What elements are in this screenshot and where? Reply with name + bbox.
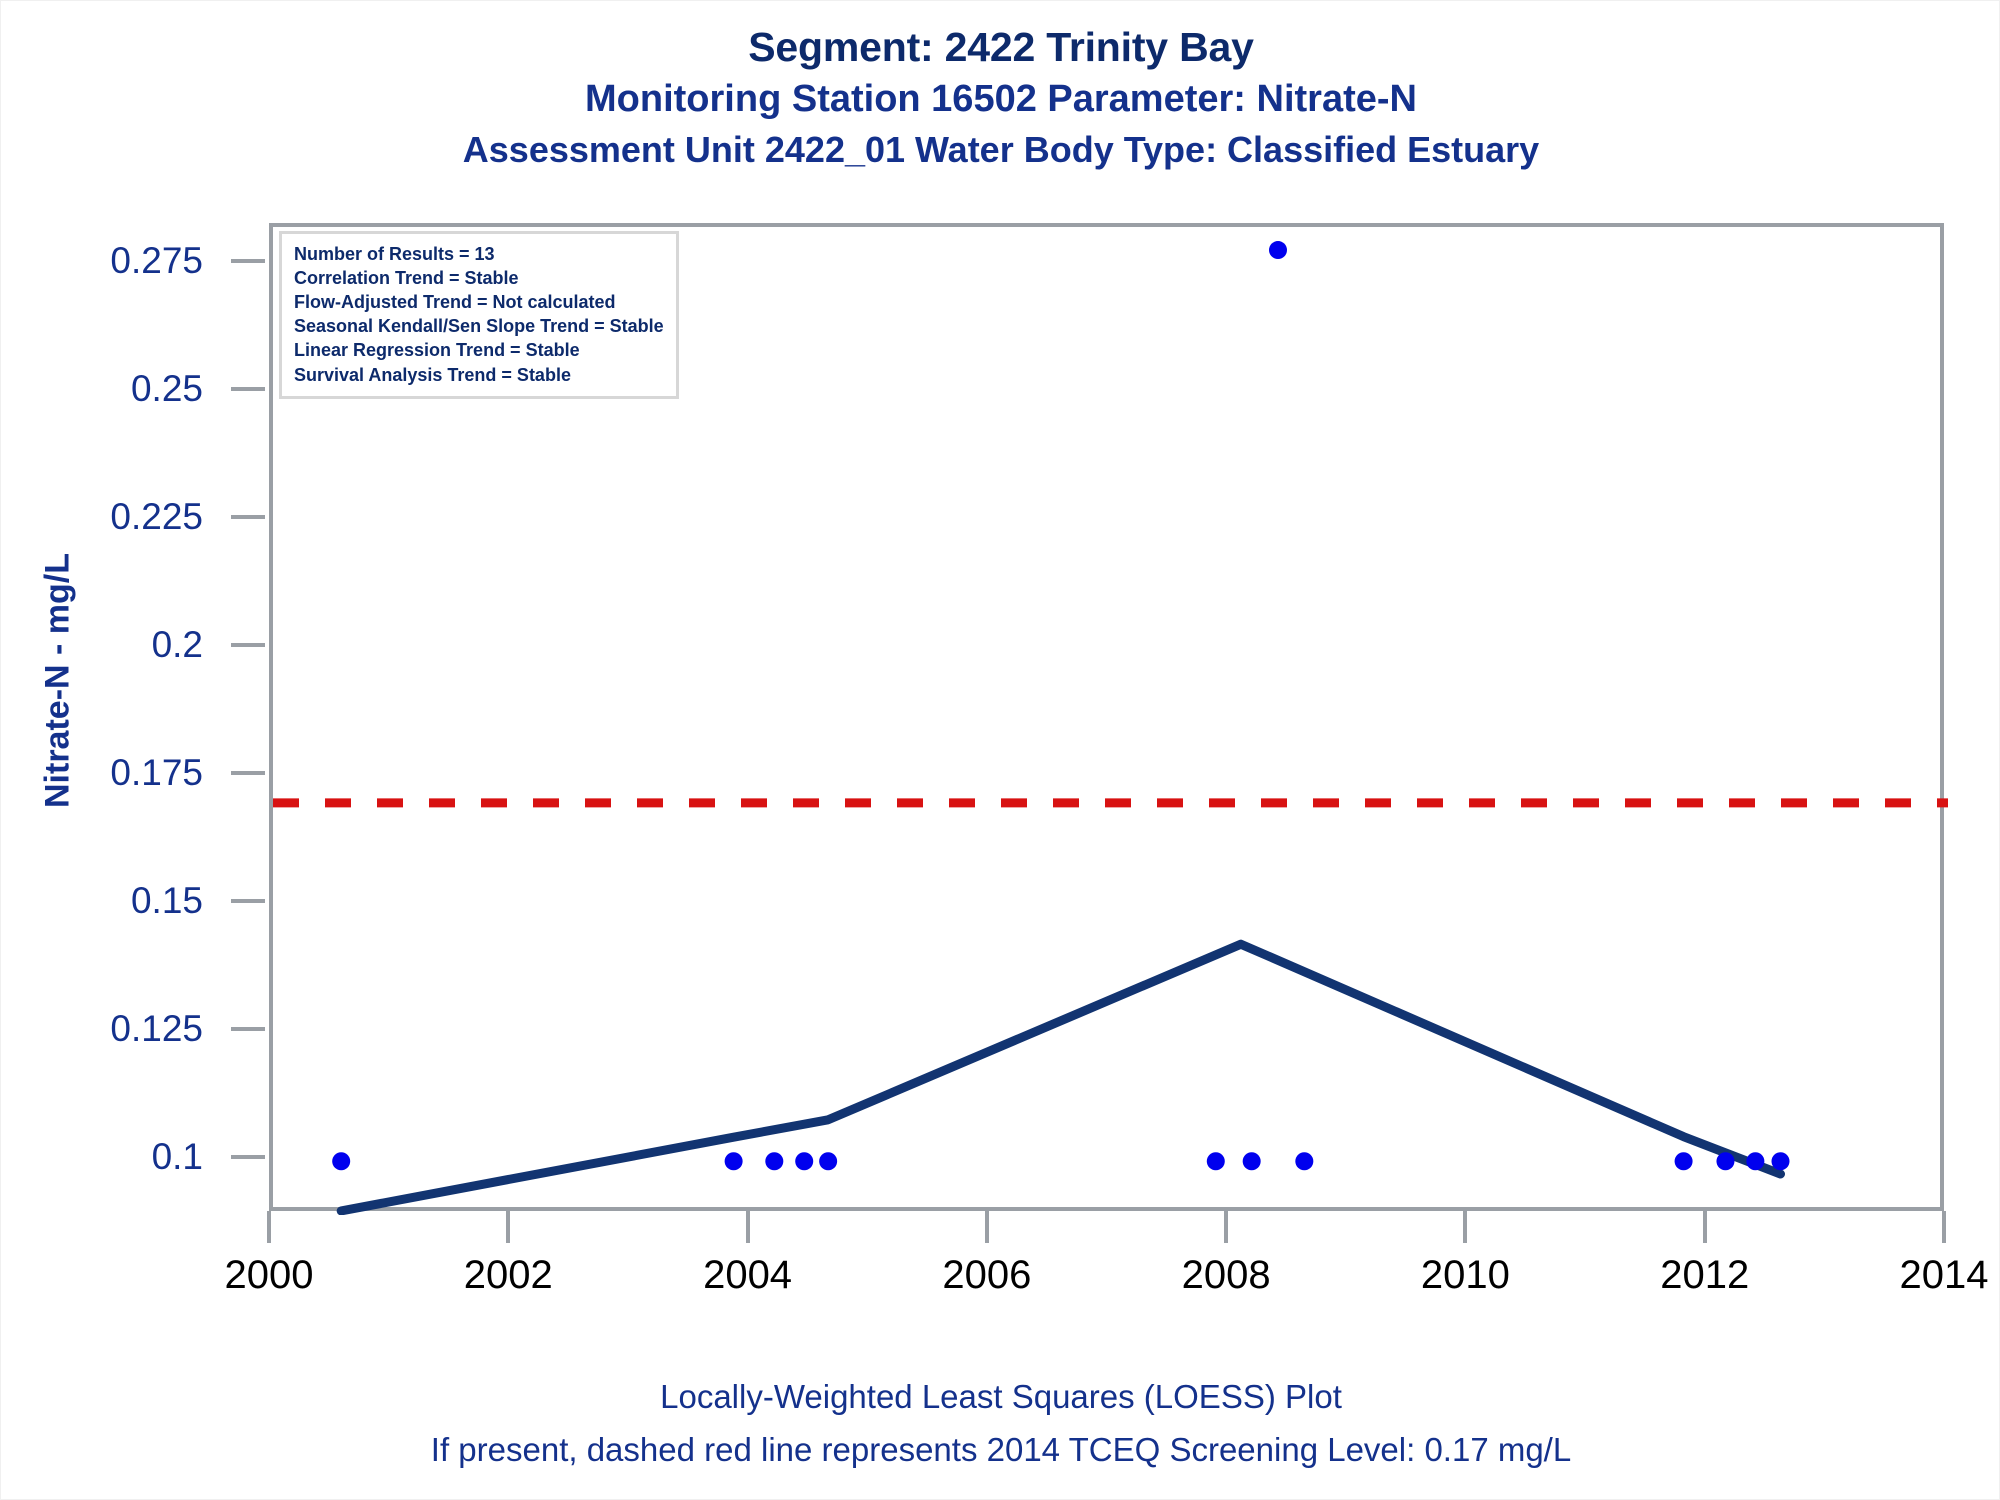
stat-line-1: Correlation Trend = Stable — [294, 266, 664, 290]
x-tick-label: 2012 — [1660, 1253, 1749, 1298]
x-tick-mark — [985, 1211, 989, 1243]
x-tick-label: 2000 — [225, 1253, 314, 1298]
x-tick-label: 2010 — [1421, 1253, 1510, 1298]
stat-line-2: Flow-Adjusted Trend = Not calculated — [294, 290, 664, 314]
x-tick-mark — [267, 1211, 271, 1243]
chart-subtitle-station: Monitoring Station 16502 Parameter: Nitr… — [1, 77, 2000, 122]
y-tick-mark — [231, 387, 265, 391]
data-point — [795, 1152, 813, 1170]
statistics-legend-box: Number of Results = 13Correlation Trend … — [279, 231, 679, 399]
y-tick-label: 0.15 — [131, 880, 203, 922]
y-tick-mark — [231, 515, 265, 519]
data-point — [1295, 1152, 1313, 1170]
data-point — [1207, 1152, 1225, 1170]
y-tick-label: 0.25 — [131, 368, 203, 410]
data-point — [1716, 1152, 1734, 1170]
y-tick-mark — [231, 259, 265, 263]
y-tick-label: 0.2 — [152, 624, 203, 666]
chart-page: Segment: 2422 Trinity Bay Monitoring Sta… — [0, 0, 2000, 1500]
y-tick-mark — [231, 1155, 265, 1159]
data-point — [725, 1152, 743, 1170]
page-title: Segment: 2422 Trinity Bay — [1, 23, 2000, 71]
footer-plot-type: Locally-Weighted Least Squares (LOESS) P… — [1, 1375, 2000, 1419]
x-tick-label: 2014 — [1900, 1253, 1989, 1298]
y-tick-label: 0.125 — [110, 1008, 203, 1050]
x-tick-mark — [1942, 1211, 1946, 1243]
x-tick-label: 2004 — [703, 1253, 792, 1298]
stat-line-0: Number of Results = 13 — [294, 242, 664, 266]
data-point — [1746, 1152, 1764, 1170]
y-tick-mark — [231, 643, 265, 647]
data-point — [1675, 1152, 1693, 1170]
x-tick-mark — [506, 1211, 510, 1243]
footer-screening-level-note: If present, dashed red line represents 2… — [1, 1428, 2000, 1472]
chart-subtitle-assessment-unit: Assessment Unit 2422_01 Water Body Type:… — [1, 129, 2000, 171]
y-tick-label: 0.175 — [110, 752, 203, 794]
x-tick-mark — [746, 1211, 750, 1243]
data-point — [819, 1152, 837, 1170]
data-point — [1269, 241, 1287, 259]
y-tick-label: 0.275 — [110, 240, 203, 282]
data-point — [1243, 1152, 1261, 1170]
data-point — [765, 1152, 783, 1170]
y-tick-mark — [231, 771, 265, 775]
x-tick-label: 2002 — [464, 1253, 553, 1298]
x-tick-label: 2008 — [1182, 1253, 1271, 1298]
x-tick-label: 2006 — [942, 1253, 1031, 1298]
loess-trend-line — [341, 944, 1780, 1211]
y-tick-label: 0.1 — [152, 1136, 203, 1178]
y-tick-mark — [231, 1027, 265, 1031]
x-axis-ticks: 20002002200420062008201020122014 — [269, 1211, 1944, 1331]
x-tick-mark — [1703, 1211, 1707, 1243]
data-point — [1772, 1152, 1790, 1170]
chart-title-block: Segment: 2422 Trinity Bay Monitoring Sta… — [1, 23, 2000, 172]
stat-line-5: Survival Analysis Trend = Stable — [294, 363, 664, 387]
data-point — [332, 1152, 350, 1170]
stat-line-4: Linear Regression Trend = Stable — [294, 338, 664, 362]
x-tick-mark — [1224, 1211, 1228, 1243]
stat-line-3: Seasonal Kendall/Sen Slope Trend = Stabl… — [294, 314, 664, 338]
y-tick-mark — [231, 899, 265, 903]
x-tick-mark — [1463, 1211, 1467, 1243]
y-axis-ticks: 0.10.1250.150.1750.20.2250.250.275 — [1, 223, 249, 1211]
y-tick-label: 0.225 — [110, 496, 203, 538]
chart-footer: Locally-Weighted Least Squares (LOESS) P… — [1, 1375, 2000, 1472]
